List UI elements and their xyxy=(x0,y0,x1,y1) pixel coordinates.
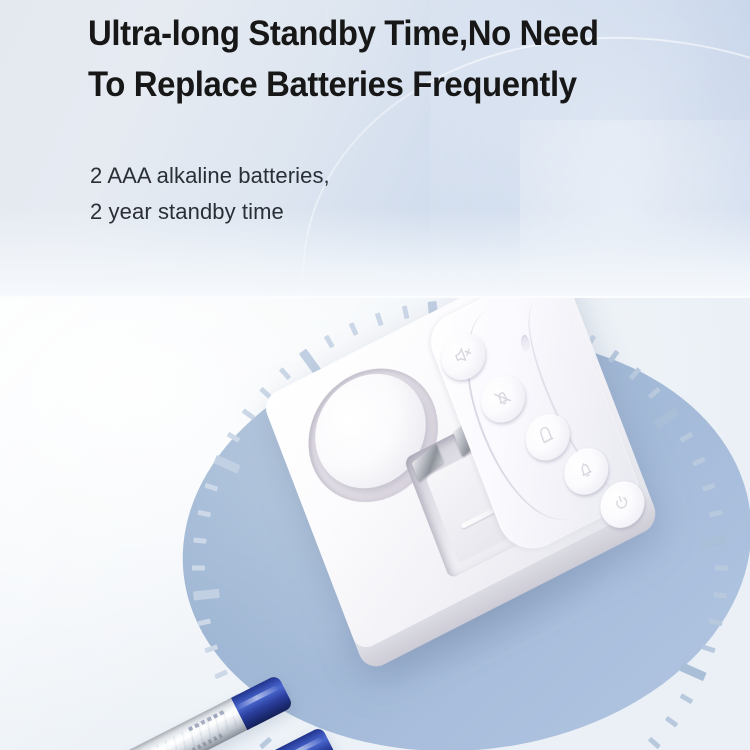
bell-icon xyxy=(572,455,601,488)
subheadline-text: 2 AAA alkaline batteries, 2 year standby… xyxy=(90,158,610,230)
power-icon xyxy=(608,488,637,521)
product-photo xyxy=(0,298,750,750)
bell-off-icon xyxy=(489,383,518,416)
speaker-mute-icon xyxy=(449,340,478,373)
product-banner-image: Ultra-long Standby Time,No Need To Repla… xyxy=(0,0,750,750)
battery-label-texture xyxy=(133,708,238,750)
aaa-battery-1 xyxy=(106,674,293,750)
headline-text: Ultra-long Standby Time,No Need To Repla… xyxy=(88,8,671,110)
door-chime-icon xyxy=(533,421,562,454)
